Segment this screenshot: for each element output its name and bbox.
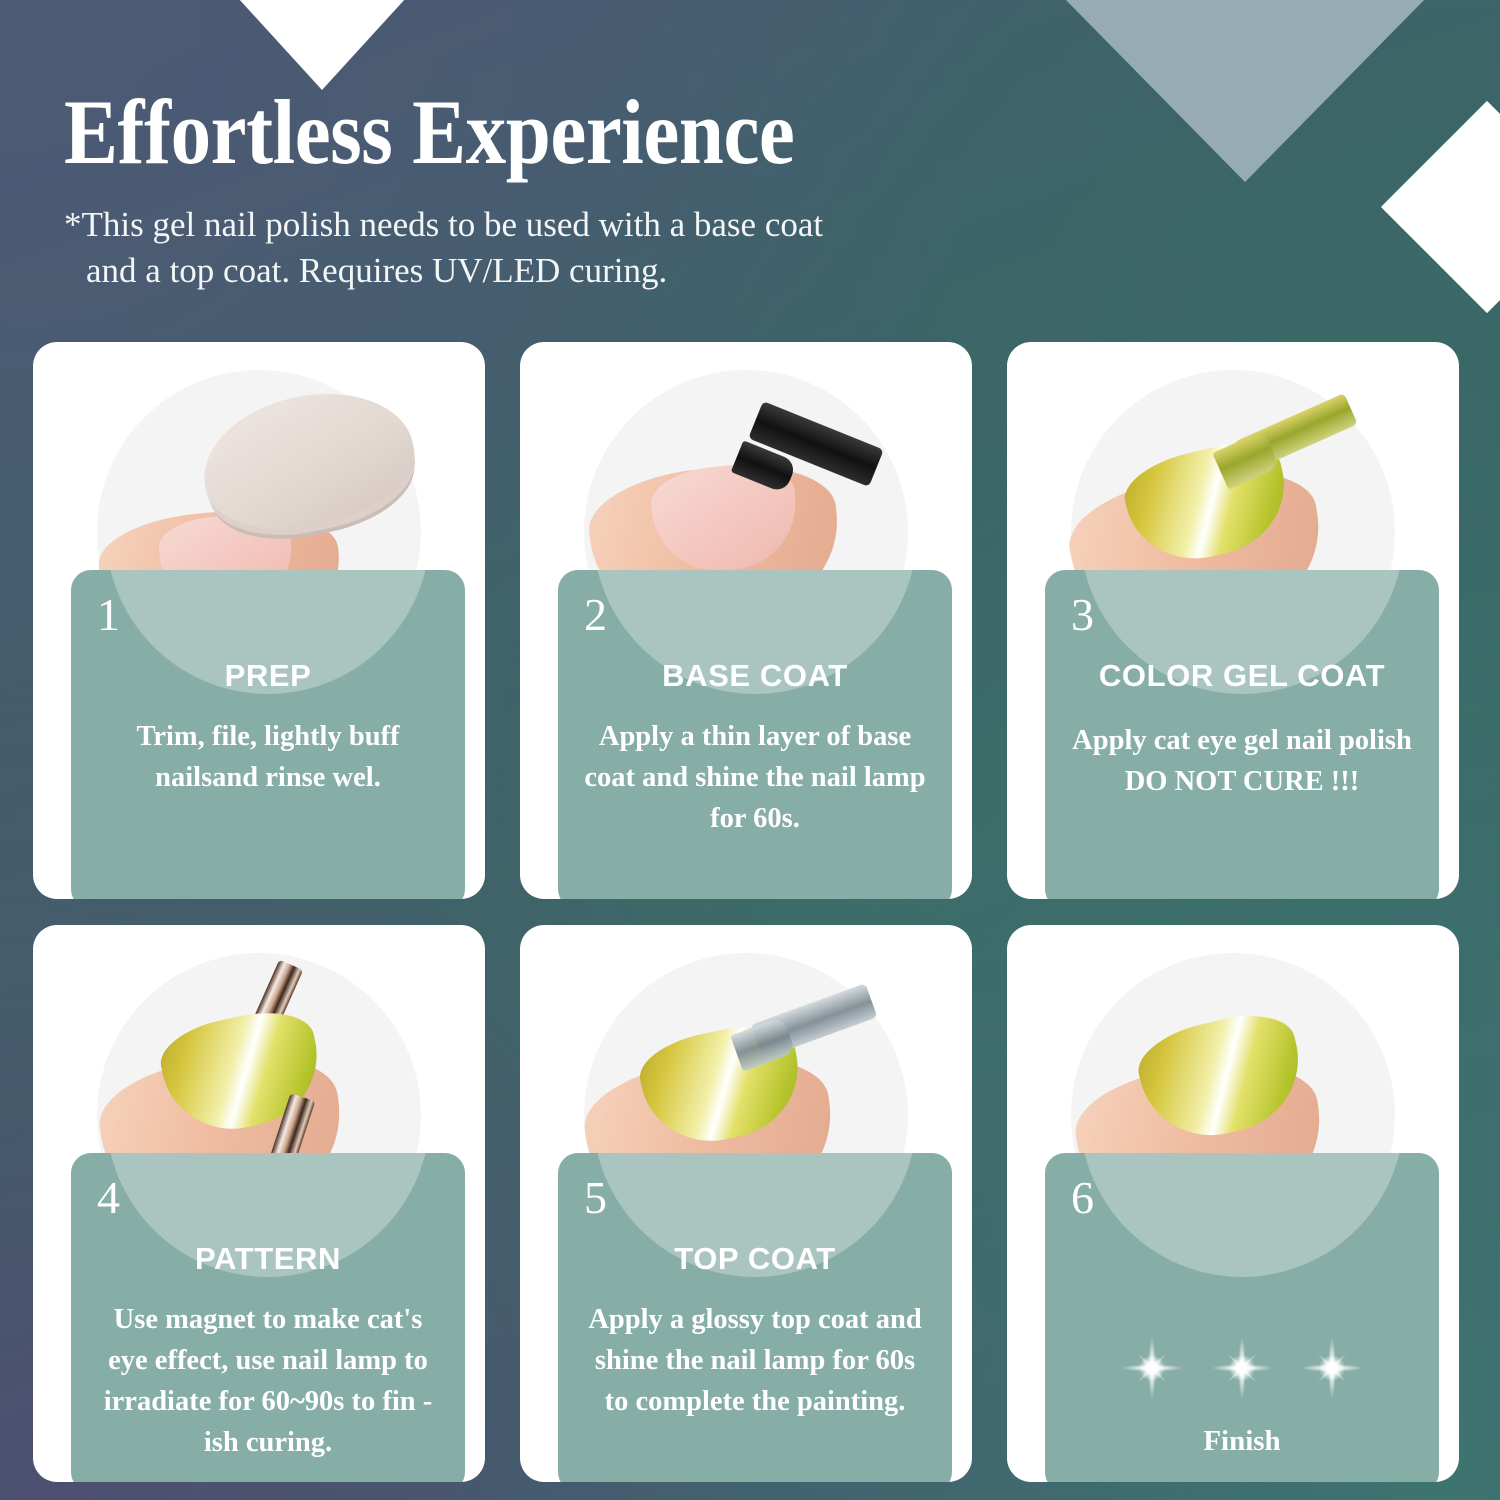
step-description: Apply cat eye gel nail polish DO NOT CUR…	[1071, 720, 1413, 802]
step-panel-3: 3 COLOR GEL COAT Apply cat eye gel nail …	[1045, 570, 1439, 899]
steps-grid: 1 PREP Trim, file, lightly buff nailsand…	[33, 342, 1467, 1482]
step-number: 4	[97, 1175, 120, 1221]
step-description: Apply a glossy top coat and shine the na…	[584, 1299, 926, 1422]
step-description: Finish	[1071, 1421, 1413, 1463]
page-subtitle: *This gel nail polish needs to be used w…	[64, 202, 1114, 294]
step-card-4: 4 PATTERN Use magnet to make cat's eye e…	[33, 925, 485, 1482]
step-card-5: 5 TOP COAT Apply a glossy top coat and s…	[520, 925, 972, 1482]
triangle-white-top-left-icon	[238, 0, 406, 90]
step-title: COLOR GEL COAT	[1045, 658, 1439, 694]
step-title: BASE COAT	[558, 658, 952, 694]
step-title: PREP	[71, 658, 465, 694]
step-number: 3	[1071, 592, 1094, 638]
step-card-3: 3 COLOR GEL COAT Apply cat eye gel nail …	[1007, 342, 1459, 899]
step-title: PATTERN	[71, 1241, 465, 1277]
sparkle-star-icon	[1109, 1325, 1195, 1411]
header: Effortless Experience *This gel nail pol…	[64, 86, 1114, 294]
step-description: Trim, file, lightly buff nailsand rinse …	[97, 716, 439, 798]
step-card-2: 2 BASE COAT Apply a thin layer of base c…	[520, 342, 972, 899]
page-title: Effortless Experience	[64, 86, 988, 180]
step-description: Apply a thin layer of base coat and shin…	[584, 716, 926, 839]
step-number: 1	[97, 592, 120, 638]
step-panel-4: 4 PATTERN Use magnet to make cat's eye e…	[71, 1153, 465, 1482]
sparkle-group	[1045, 1325, 1439, 1411]
step-panel-5: 5 TOP COAT Apply a glossy top coat and s…	[558, 1153, 952, 1482]
subtitle-line-2: and a top coat. Requires UV/LED curing.	[64, 248, 1114, 294]
diamond-white-right-icon	[1381, 101, 1500, 313]
infographic-page: Effortless Experience *This gel nail pol…	[0, 0, 1500, 1500]
step-card-6: 6 Finish	[1007, 925, 1459, 1482]
step-panel-1: 1 PREP Trim, file, lightly buff nailsand…	[71, 570, 465, 899]
sparkle-star-icon	[1289, 1325, 1375, 1411]
step-number: 6	[1071, 1175, 1094, 1221]
step-number: 5	[584, 1175, 607, 1221]
sparkle-star-icon	[1199, 1325, 1285, 1411]
panel-circle-tint	[1080, 1153, 1404, 1277]
step-panel-2: 2 BASE COAT Apply a thin layer of base c…	[558, 570, 952, 899]
step-card-1: 1 PREP Trim, file, lightly buff nailsand…	[33, 342, 485, 899]
step-title: TOP COAT	[558, 1241, 952, 1277]
step-number: 2	[584, 592, 607, 638]
step-description: Use magnet to make cat's eye effect, use…	[97, 1299, 439, 1463]
triangle-gray-top-right-icon	[1060, 0, 1430, 182]
step-panel-6: 6 Finish	[1045, 1153, 1439, 1482]
subtitle-line-1: *This gel nail polish needs to be used w…	[64, 205, 823, 244]
